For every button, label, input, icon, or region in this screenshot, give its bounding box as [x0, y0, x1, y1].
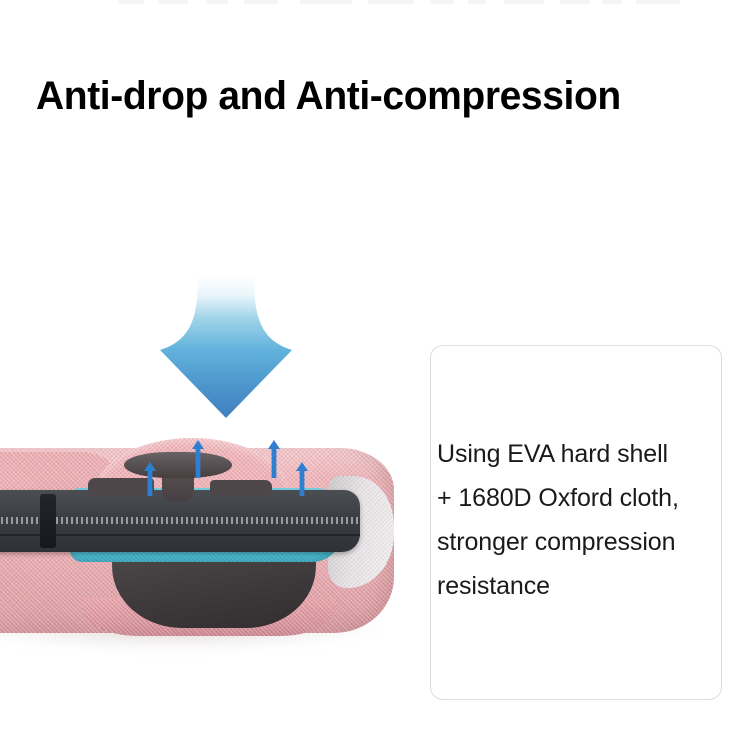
thumbstick-cap: [124, 452, 232, 478]
callout-line: resistance: [437, 564, 719, 608]
product-feature-banner: Anti-drop and Anti-compression: [0, 0, 750, 750]
cropped-text-fragment: [504, 0, 544, 4]
callout-line: Using EVA hard shell: [437, 432, 719, 476]
cropped-text-fragment: [158, 0, 188, 4]
up-arrow-icon: [192, 440, 204, 478]
cropped-text-fragment: [560, 0, 590, 4]
cropped-text-fragment: [636, 0, 680, 4]
cropped-text-fragment: [602, 0, 622, 4]
callout-line: stronger compression: [437, 520, 719, 564]
up-arrow-icon: [268, 440, 280, 478]
console-pad-right: [210, 480, 272, 496]
cropped-text-fragment: [430, 0, 454, 4]
cropped-text-fragment: [368, 0, 414, 4]
down-arrow-icon: [160, 276, 292, 418]
cropped-text-fragment: [244, 0, 278, 4]
product-image-eva-case: [0, 430, 420, 660]
page-title: Anti-drop and Anti-compression: [36, 72, 709, 120]
cropped-text-fragment: [206, 0, 228, 4]
callout-line: + 1680D Oxford cloth,: [437, 476, 719, 520]
feature-callout-text: Using EVA hard shell + 1680D Oxford clot…: [437, 432, 719, 608]
up-arrow-icon: [296, 462, 308, 496]
cropped-text-fragment: [300, 0, 352, 4]
feature-callout-box: Using EVA hard shell + 1680D Oxford clot…: [430, 345, 722, 700]
up-arrow-icon: [144, 462, 156, 496]
cropped-text-fragment: [118, 0, 144, 4]
cropped-text-remnants: [0, 0, 750, 9]
zipper-pull-tab: [40, 494, 56, 548]
cropped-text-fragment: [468, 0, 486, 4]
